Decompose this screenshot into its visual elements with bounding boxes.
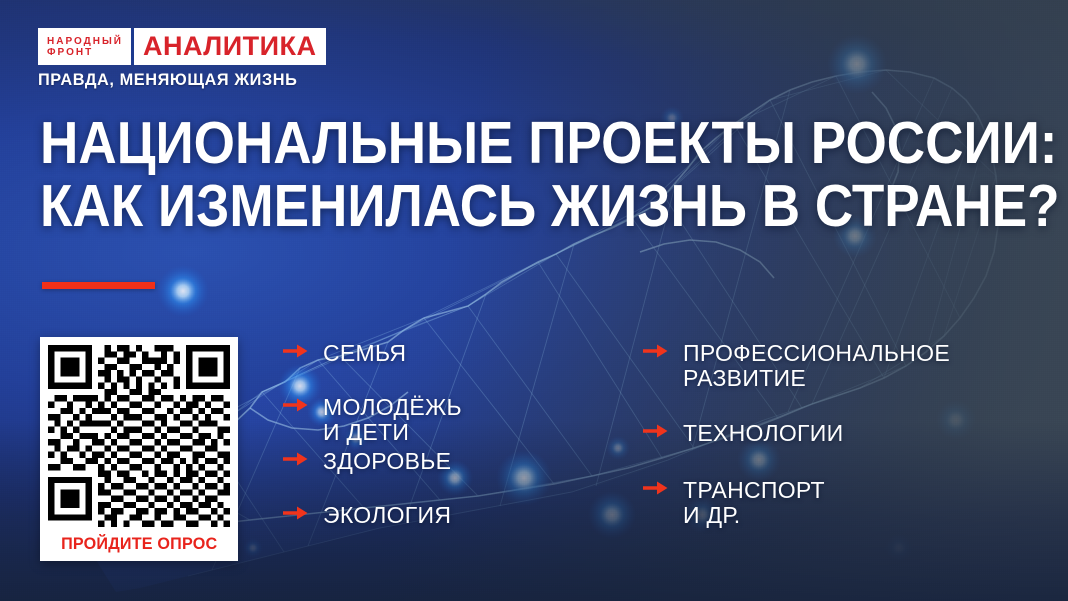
logo-section-label: АНАЛИТИКА <box>143 33 317 60</box>
survey-qr-card[interactable]: ПРОЙДИТЕ ОПРОС <box>40 337 238 561</box>
logo-org-line1: НАРОДНЫЙ <box>47 36 123 47</box>
topic-right-item[interactable]: ПРОФЕССИОНАЛЬНОЕ РАЗВИТИЕ <box>642 341 950 391</box>
topic-right-item[interactable]: ТРАНСПОРТ И ДР. <box>642 478 825 528</box>
logo-org-block: НАРОДНЫЙ ФРОНТ <box>38 28 131 65</box>
qr-label-wrap: ПРОЙДИТЕ ОПРОС <box>48 527 230 561</box>
survey-qr-code[interactable] <box>48 345 230 527</box>
poster-canvas: НАРОДНЫЙ ФРОНТ АНАЛИТИКА ПРАВДА, МЕНЯЮЩА… <box>0 0 1068 601</box>
topic-left-item[interactable]: ЭКОЛОГИЯ <box>282 503 451 528</box>
topic-left-item[interactable]: СЕМЬЯ <box>282 341 406 366</box>
topic-left-label: МОЛОДЁЖЬ И ДЕТИ <box>323 395 462 445</box>
arrow-right-icon <box>282 503 312 523</box>
qr-label: ПРОЙДИТЕ ОПРОС <box>61 534 217 554</box>
topic-left-label: ЗДОРОВЬЕ <box>323 449 451 474</box>
arrow-right-icon <box>642 341 672 361</box>
topic-right-label: ТРАНСПОРТ И ДР. <box>683 478 825 528</box>
brand-logo: НАРОДНЫЙ ФРОНТ АНАЛИТИКА ПРАВДА, МЕНЯЮЩА… <box>38 28 326 90</box>
topic-left-label: СЕМЬЯ <box>323 341 406 366</box>
topic-left-item[interactable]: ЗДОРОВЬЕ <box>282 449 451 474</box>
logo-org-line2: ФРОНТ <box>47 47 123 58</box>
arrow-right-icon <box>282 395 312 415</box>
arrow-right-icon <box>642 421 672 441</box>
topic-right-label: ПРОФЕССИОНАЛЬНОЕ РАЗВИТИЕ <box>683 341 950 391</box>
logo-tagline: ПРАВДА, МЕНЯЮЩАЯ ЖИЗНЬ <box>38 70 314 90</box>
page-title-line-2: КАК ИЗМЕНИЛАСЬ ЖИЗНЬ В СТРАНЕ? <box>40 175 931 238</box>
page-title: НАЦИОНАЛЬНЫЕ ПРОЕКТЫ РОССИИ: КАК ИЗМЕНИЛ… <box>40 112 1030 238</box>
arrow-right-icon <box>282 449 312 469</box>
topic-right-item[interactable]: ТЕХНОЛОГИИ <box>642 421 843 446</box>
arrow-right-icon <box>282 341 312 361</box>
logo-row: НАРОДНЫЙ ФРОНТ АНАЛИТИКА <box>38 28 326 65</box>
topic-left-label: ЭКОЛОГИЯ <box>323 503 451 528</box>
topic-left-item[interactable]: МОЛОДЁЖЬ И ДЕТИ <box>282 395 462 445</box>
page-title-line-1: НАЦИОНАЛЬНЫЕ ПРОЕКТЫ РОССИИ: <box>40 112 931 175</box>
title-underline-rule <box>42 282 155 289</box>
arrow-right-icon <box>642 478 672 498</box>
topic-right-label: ТЕХНОЛОГИИ <box>683 421 843 446</box>
logo-section-block: АНАЛИТИКА <box>134 28 326 65</box>
